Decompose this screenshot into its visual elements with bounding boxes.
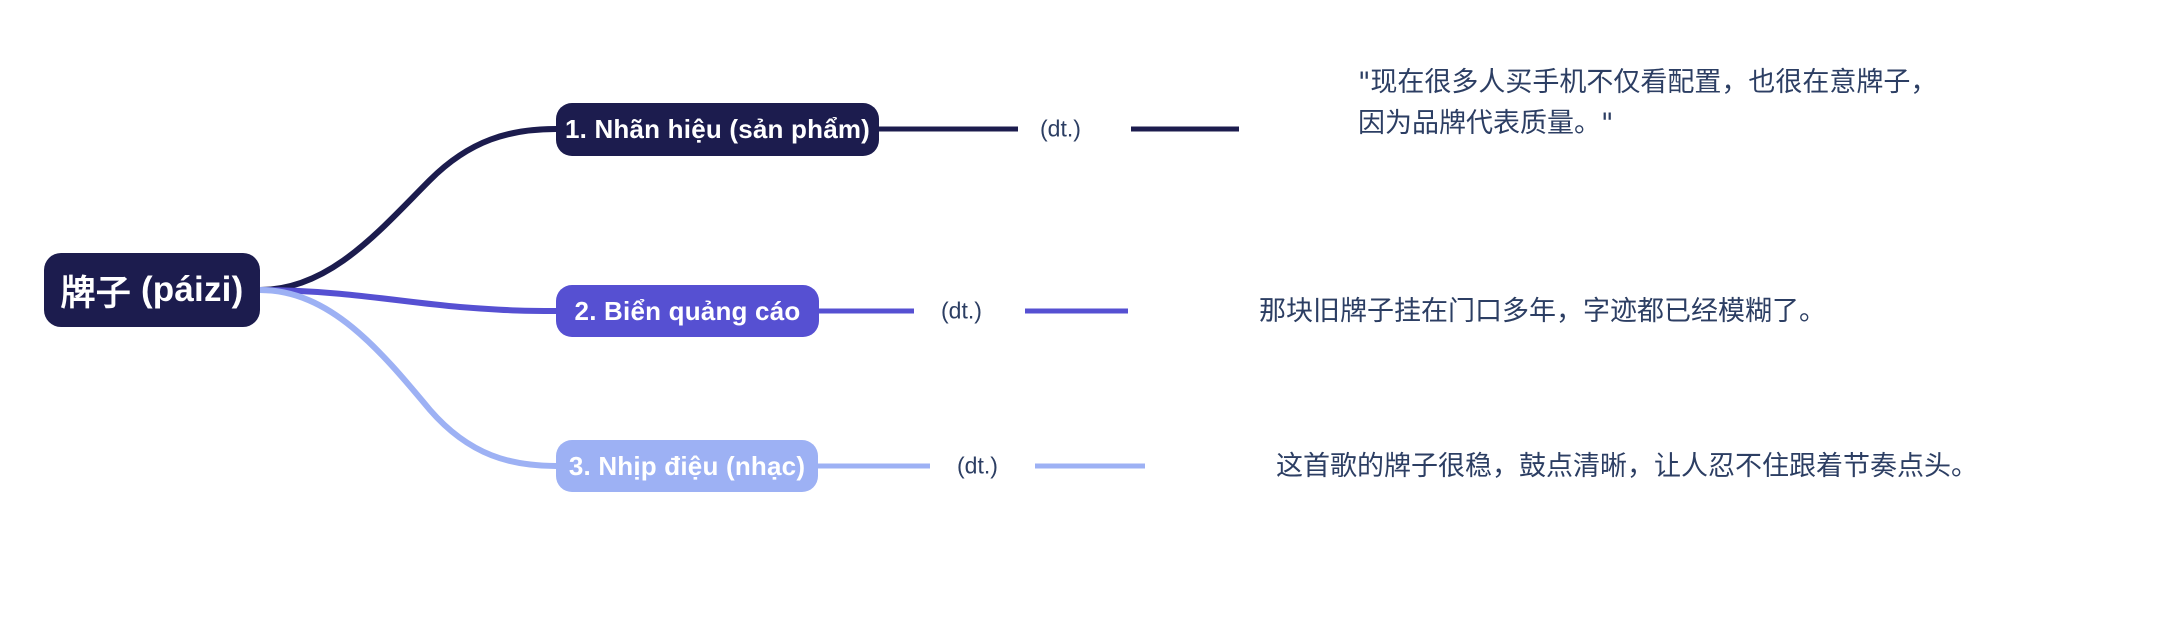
root-node-hanzi: 牌子 [61,265,131,316]
pos-label-1: (dt.) [1040,116,1081,143]
branch-node-3[interactable]: 3. Nhịp điệu (nhạc) [556,440,818,492]
branch-node-2-label: 2. Biển quảng cáo [575,296,801,327]
example-sentence-1: "现在很多人买手机不仅看配置，也很在意牌子， 因为品牌代表质量。" [1358,62,1937,144]
root-node-pinyin: (páizi) [141,270,244,310]
branch-node-1-label: 1. Nhãn hiệu (sản phẩm) [565,114,870,145]
edge-root-to-branch-3 [260,290,556,466]
example-sentence-3: 这首歌的牌子很稳，鼓点清晰，让人忍不住跟着节奏点头。 [1276,446,1978,487]
branch-node-3-label: 3. Nhịp điệu (nhạc) [569,451,805,482]
mindmap-canvas: 牌子(páizi) 1. Nhãn hiệu (sản phẩm) (dt.) … [0,0,2183,642]
pos-label-3: (dt.) [957,453,998,480]
branch-node-1[interactable]: 1. Nhãn hiệu (sản phẩm) [556,103,879,156]
branch-node-2[interactable]: 2. Biển quảng cáo [556,285,819,337]
example-sentence-2: 那块旧牌子挂在门口多年，字迹都已经模糊了。 [1259,291,1826,332]
edge-root-to-branch-2 [260,290,556,311]
edge-root-to-branch-1 [260,129,556,290]
pos-label-2: (dt.) [941,298,982,325]
root-node[interactable]: 牌子(páizi) [44,253,260,327]
